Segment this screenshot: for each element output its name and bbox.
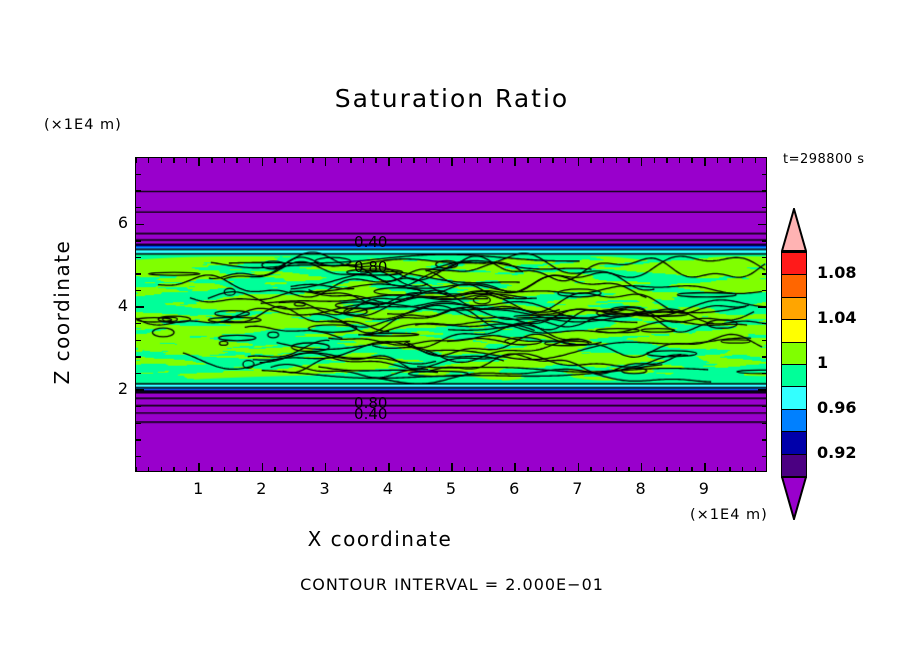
x-tick-label: 9 [689,479,719,498]
x-major-tick-top [704,158,706,166]
colorbar-segment [781,454,807,478]
x-minor-tick-top [350,158,351,163]
y-tick-label: 2 [98,379,128,398]
x-minor-tick-top [755,158,756,163]
x-minor-tick-top [603,158,604,163]
y-minor-tick-right [762,257,767,258]
colorbar-segment [781,297,807,321]
x-minor-tick [679,467,680,472]
x-minor-tick-top [464,158,465,163]
x-minor-tick-top [363,158,364,163]
x-minor-tick [565,467,566,472]
x-tick-label: 8 [626,479,656,498]
colorbar-segment [781,409,807,433]
y-major-tick [136,224,144,226]
x-minor-tick-top [717,158,718,163]
colorbar-tick-label: 1.04 [817,308,856,327]
y-minor-tick [136,423,141,424]
x-minor-tick [691,467,692,472]
x-minor-tick-top [274,158,275,163]
x-minor-tick-top [186,158,187,163]
x-minor-tick-top [527,158,528,163]
y-minor-tick [136,373,141,374]
timestamp-label: t=298800 s [783,152,865,167]
x-minor-tick-top [616,158,617,163]
x-major-tick-top [514,158,516,166]
x-minor-tick [590,467,591,472]
x-major-tick [514,463,516,471]
x-axis-units-label: (×1E4 m) [690,507,768,523]
x-major-tick-top [388,158,390,166]
x-minor-tick-top [439,158,440,163]
x-major-tick [262,463,264,471]
y-minor-tick [136,240,141,241]
x-minor-tick [654,467,655,472]
x-minor-tick-top [401,158,402,163]
x-minor-tick-top [628,158,629,163]
x-minor-tick [628,467,629,472]
x-major-tick [578,463,580,471]
x-minor-tick [742,467,743,472]
x-minor-tick [477,467,478,472]
x-tick-label: 4 [373,479,403,498]
x-minor-tick [363,467,364,472]
y-minor-tick [136,290,141,291]
colorbar-segment [781,319,807,343]
x-minor-tick [401,467,402,472]
x-minor-tick-top [654,158,655,163]
x-minor-tick [489,467,490,472]
x-minor-tick-top [300,158,301,163]
colorbar-bottom-arrow [781,476,807,520]
x-minor-tick [552,467,553,472]
x-minor-tick [211,467,212,472]
x-minor-tick-top [679,158,680,163]
y-minor-tick [136,340,141,341]
colorbar-segment [781,386,807,410]
x-minor-tick-top [236,158,237,163]
x-minor-tick [224,467,225,472]
x-major-tick-top [198,158,200,166]
x-minor-tick [249,467,250,472]
colorbar-top-arrow [781,208,807,252]
y-minor-tick-right [762,356,767,357]
x-minor-tick [350,467,351,472]
x-minor-tick [413,467,414,472]
y-minor-tick [136,323,141,324]
x-minor-tick-top [691,158,692,163]
x-minor-tick-top [552,158,553,163]
y-minor-tick-right [762,174,767,175]
x-minor-tick-top [211,158,212,163]
x-minor-tick-top [502,158,503,163]
x-minor-tick-top [742,158,743,163]
y-minor-tick [136,273,141,274]
x-minor-tick-top [224,158,225,163]
x-major-tick [641,463,643,471]
x-minor-tick [439,467,440,472]
x-major-tick-top [578,158,580,166]
x-major-tick [704,463,706,471]
x-minor-tick-top [135,158,136,163]
colorbar-segment [781,342,807,366]
x-tick-label: 7 [562,479,592,498]
y-major-tick-right [758,224,766,226]
y-minor-tick-right [762,423,767,424]
x-minor-tick-top [312,158,313,163]
x-minor-tick [173,467,174,472]
x-minor-tick [300,467,301,472]
x-minor-tick-top [565,158,566,163]
contour-plot-area: 0.400.800.800.40 [135,157,767,472]
x-minor-tick-top [148,158,149,163]
contour-field-canvas [136,158,766,471]
contour-level-label: 0.80 [354,260,387,275]
colorbar-tick-label: 0.96 [817,398,856,417]
y-minor-tick [136,356,141,357]
x-minor-tick [148,467,149,472]
x-minor-tick-top [540,158,541,163]
colorbar-segment [781,364,807,388]
x-major-tick [451,463,453,471]
x-minor-tick-top [590,158,591,163]
x-minor-tick-top [375,158,376,163]
y-minor-tick [136,190,141,191]
y-minor-tick-right [762,456,767,457]
y-minor-tick [136,406,141,407]
x-minor-tick-top [729,158,730,163]
x-minor-tick [375,467,376,472]
y-minor-tick [136,439,141,440]
y-minor-tick-right [762,340,767,341]
x-minor-tick [312,467,313,472]
x-minor-tick [186,467,187,472]
x-minor-tick [274,467,275,472]
x-minor-tick [527,467,528,472]
x-minor-tick [338,467,339,472]
x-tick-label: 1 [183,479,213,498]
y-minor-tick [136,456,141,457]
x-minor-tick [502,467,503,472]
contour-level-label: 0.40 [354,235,387,250]
x-minor-tick [603,467,604,472]
x-major-tick [198,463,200,471]
x-minor-tick-top [489,158,490,163]
x-major-tick [325,463,327,471]
x-minor-tick-top [477,158,478,163]
y-major-tick-right [758,306,766,308]
colorbar-segment [781,274,807,298]
y-minor-tick-right [762,290,767,291]
x-major-tick-top [451,158,453,166]
colorbar-tick-label: 0.92 [817,443,856,462]
colorbar-segment [781,252,807,276]
x-minor-tick-top [666,158,667,163]
x-tick-label: 2 [246,479,276,498]
y-minor-tick-right [762,406,767,407]
y-axis-title: Z coordinate [50,212,74,412]
y-tick-label: 6 [98,213,128,232]
x-minor-tick [755,467,756,472]
y-minor-tick-right [762,207,767,208]
colorbar: 1.081.0410.960.92 [779,208,809,520]
x-minor-tick [616,467,617,472]
x-minor-tick-top [413,158,414,163]
x-minor-tick-top [249,158,250,163]
colorbar-tick-label: 1 [817,353,828,372]
contour-level-label: 0.40 [354,407,387,422]
x-minor-tick [161,467,162,472]
y-minor-tick-right [762,439,767,440]
x-tick-label: 5 [436,479,466,498]
y-minor-tick-right [762,240,767,241]
colorbar-tick-label: 1.08 [817,263,856,282]
x-minor-tick [426,467,427,472]
x-minor-tick-top [161,158,162,163]
x-minor-tick [729,467,730,472]
y-minor-tick-right [762,190,767,191]
y-axis-units-label: (×1E4 m) [44,117,122,133]
x-minor-tick-top [426,158,427,163]
y-minor-tick-right [762,323,767,324]
y-tick-label: 4 [98,296,128,315]
x-tick-label: 3 [310,479,340,498]
y-major-tick [136,306,144,308]
x-tick-label: 6 [499,479,529,498]
x-major-tick [388,463,390,471]
x-minor-tick [540,467,541,472]
x-axis-title: X coordinate [0,527,760,551]
x-major-tick-top [262,158,264,166]
x-minor-tick-top [338,158,339,163]
y-minor-tick [136,257,141,258]
x-minor-tick [236,467,237,472]
colorbar-segment [781,431,807,455]
y-major-tick-right [758,389,766,391]
page-title: Saturation Ratio [0,84,904,113]
x-minor-tick [135,467,136,472]
y-minor-tick [136,207,141,208]
x-minor-tick-top [287,158,288,163]
y-minor-tick-right [762,373,767,374]
x-minor-tick [464,467,465,472]
y-major-tick [136,389,144,391]
x-minor-tick [666,467,667,472]
x-minor-tick-top [173,158,174,163]
x-major-tick-top [641,158,643,166]
contour-interval-label: CONTOUR INTERVAL = 2.000E−01 [0,575,904,594]
x-major-tick-top [325,158,327,166]
y-minor-tick [136,174,141,175]
y-minor-tick-right [762,273,767,274]
x-minor-tick [717,467,718,472]
x-minor-tick [287,467,288,472]
